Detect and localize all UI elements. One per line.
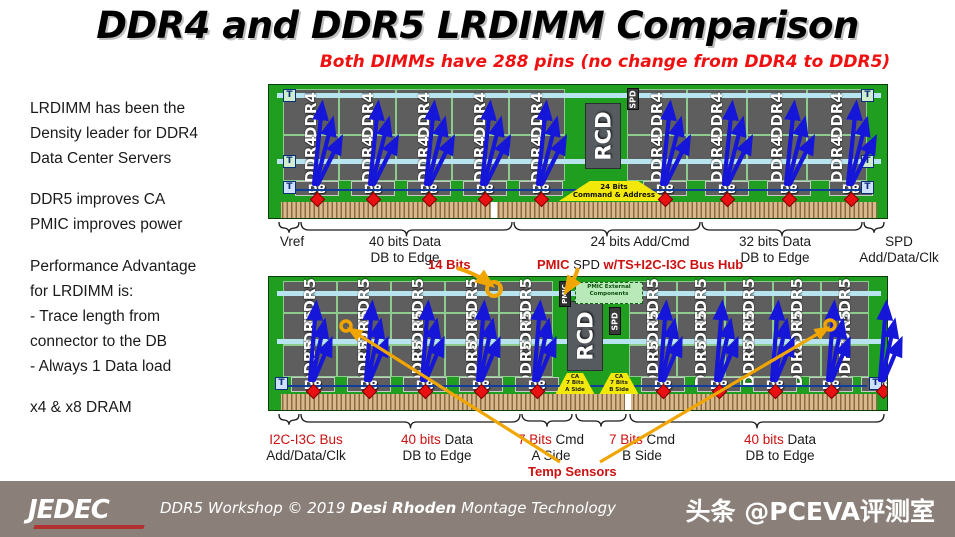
data-bus-line: [277, 93, 881, 98]
ddr5-label-i2c-i3c: I2C-I3C Bus Add/Data/Clk: [246, 432, 366, 465]
ddr5-label-data-right: 40 bits Data DB to Edge: [700, 432, 860, 465]
left-text-column: LRDIMM has been theDensity leader for DD…: [30, 96, 260, 436]
page-title: DDR4 and DDR5 LRDIMM Comparison: [0, 4, 955, 47]
dram-chip: [821, 281, 869, 313]
termination-marker: T: [283, 181, 296, 194]
ddr5-label-cmd-b: 7 Bits Cmd B Side: [583, 432, 701, 465]
ddr4-label-vref: Vref: [260, 234, 324, 250]
dram-chip: [499, 281, 553, 313]
spd-chip: SPD: [609, 307, 621, 335]
dimension-brace: [630, 414, 884, 428]
data-bus-line: [277, 159, 881, 164]
slide-subtitle: Both DIMMs have 288 pins (no change from…: [255, 52, 955, 72]
dimension-brace: [522, 414, 572, 427]
dram-chip: [283, 345, 337, 377]
footer-credit: DDR5 Workshop © 2019 Desi Rhoden Montage…: [160, 499, 616, 517]
spd-label: SPD: [629, 90, 638, 108]
rcd-chip: RCD: [567, 301, 603, 371]
left-paragraph-2: DDR5 improves CAPMIC improves power: [30, 187, 260, 237]
edge-connector-notch: [625, 394, 631, 410]
dram-chip: [725, 345, 773, 377]
dram-chip: [391, 281, 445, 313]
watermark-pceva: 头条 @PCEVA评测室: [686, 492, 935, 528]
edge-left-cap: [269, 394, 281, 410]
left-paragraph-3: Performance Advantagefor LRDIMM is:- Tra…: [30, 254, 260, 380]
dram-chip: [773, 345, 821, 377]
spd-chip: SPD: [627, 88, 639, 110]
jedec-logo: JEDEC: [28, 495, 109, 525]
dram-chip: [677, 281, 725, 313]
dram-chip: [499, 345, 553, 377]
dram-chip: [337, 345, 391, 377]
dram-chip: [807, 135, 867, 181]
spd-label: SPD: [611, 312, 620, 330]
pmic-label: PMIC: [561, 284, 569, 304]
slide-root: DDR4 and DDR5 LRDIMM Comparison Both DIM…: [0, 0, 955, 537]
edge-left-cap: [269, 202, 281, 218]
termination-marker: T: [861, 181, 874, 194]
termination-marker: T: [861, 89, 874, 102]
dram-chip: [396, 135, 452, 181]
ddr4-dimm-board: DDR4DDR4DDR4DDR4DDR4DDR4DDR4DDR4DDR4DDR4…: [268, 84, 888, 219]
callout-pmic-spd: PMIC SPD w/TS+I2C-I3C Bus Hub: [537, 257, 743, 272]
dram-chip: [283, 281, 337, 313]
termination-marker: T: [275, 377, 288, 390]
left-paragraph-4: x4 & x8 DRAM: [30, 395, 260, 420]
dimension-brace: [576, 414, 626, 427]
ca-side-label: CA7 BitsA Side: [557, 374, 593, 393]
dram-chip: [452, 135, 508, 181]
dram-chip: [725, 281, 773, 313]
ddr4-label-spd: SPD Add/Data/Clk: [842, 234, 955, 267]
pmic-chip: PMIC: [559, 281, 571, 307]
dram-chip: [629, 345, 677, 377]
dram-chip: [509, 135, 565, 181]
dimension-brace: [279, 414, 299, 425]
dimension-brace: [864, 222, 884, 233]
dram-chip: [677, 345, 725, 377]
dram-chip: [391, 345, 445, 377]
callout-temp-sensors: Temp Sensors: [528, 464, 617, 479]
dram-chip: [773, 281, 821, 313]
ca-side-label: CA7 BitsB Side: [601, 374, 637, 393]
dram-chip: [627, 135, 687, 181]
rcd-label: RCD: [591, 111, 615, 160]
dimension-brace: [301, 414, 520, 428]
ddr5-dimm-board: DDR5DDR5DDR5DDR5DDR5DDR5DDR5DDR5DDR5DDR5…: [268, 276, 888, 411]
dram-chip: [445, 345, 499, 377]
jedec-logo-underline: [33, 525, 144, 529]
dimension-brace: [279, 222, 299, 233]
termination-marker: T: [861, 155, 874, 168]
rcd-label: RCD: [573, 311, 597, 360]
dram-chip: [687, 135, 747, 181]
dram-chip: [445, 281, 499, 313]
dram-chip: [337, 281, 391, 313]
ddr4-label-add-cmd: 24 bits Add/Cmd: [560, 234, 720, 250]
callout-14-bits: 14 Bits: [428, 257, 471, 272]
dram-chip: [821, 345, 869, 377]
termination-marker: T: [283, 89, 296, 102]
termination-marker: T: [283, 155, 296, 168]
edge-connector-notch: [491, 202, 497, 218]
footer-bar: JEDEC DDR5 Workshop © 2019 Desi Rhoden M…: [0, 479, 955, 537]
edge-right-cap: [877, 202, 887, 218]
left-paragraph-1: LRDIMM has been theDensity leader for DD…: [30, 96, 260, 171]
rcd-chip: RCD: [585, 103, 621, 169]
dram-chip: [747, 135, 807, 181]
ddr5-label-data-left: 40 bits Data DB to Edge: [362, 432, 512, 465]
pmic-external-components-box: PMIC ExternalComponents: [575, 282, 643, 304]
command-address-label: 24 BitsCommand & Address: [561, 183, 667, 200]
dram-chip: [339, 135, 395, 181]
